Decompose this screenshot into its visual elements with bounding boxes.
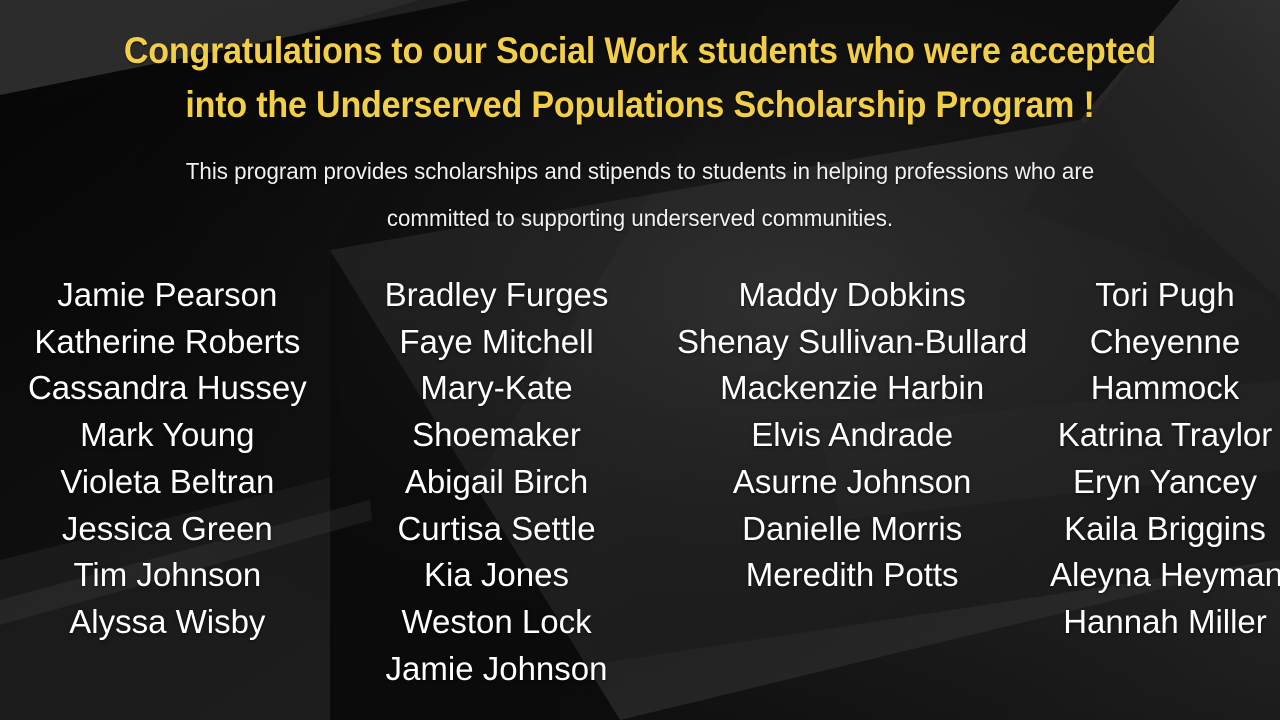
page-title-line-2: into the Underserved Populations Scholar…: [51, 78, 1229, 132]
recipient-name: Weston Lock: [347, 599, 647, 646]
recipient-name: Shoemaker: [347, 412, 647, 459]
recipient-name: Elvis Andrade: [652, 412, 1052, 459]
recipient-name: Bradley Furges: [347, 272, 647, 319]
recipient-name: Curtisa Settle: [347, 506, 647, 553]
recipient-name-columns: Jamie PearsonKatherine RobertsCassandra …: [0, 272, 1280, 692]
recipient-name: Shenay Sullivan-Bullard: [652, 319, 1052, 366]
recipient-name: Abigail Birch: [347, 459, 647, 506]
recipient-name: Tim Johnson: [0, 552, 335, 599]
name-column-2: Bradley FurgesFaye MitchellMary-KateShoe…: [347, 272, 647, 692]
recipient-name: Asurne Johnson: [652, 459, 1052, 506]
slide-canvas: Congratulations to our Social Work stude…: [0, 0, 1280, 720]
recipient-name: Kia Jones: [347, 552, 647, 599]
recipient-name: Kaila Briggins: [1050, 506, 1280, 553]
slide-content: Congratulations to our Social Work stude…: [0, 0, 1280, 720]
recipient-name: Maddy Dobkins: [652, 272, 1052, 319]
recipient-name: Mackenzie Harbin: [652, 365, 1052, 412]
page-title: Congratulations to our Social Work stude…: [51, 24, 1229, 132]
recipient-name: Eryn Yancey: [1050, 459, 1280, 506]
recipient-name: Jamie Pearson: [0, 272, 335, 319]
name-column-4: Tori PughCheyenneHammockKatrina TraylorE…: [1050, 272, 1280, 646]
recipient-name: Mark Young: [0, 412, 335, 459]
recipient-name: Aleyna Heyman: [1050, 552, 1280, 599]
recipient-name: Katherine Roberts: [0, 319, 335, 366]
page-subtitle-line-1: This program provides scholarships and s…: [118, 148, 1163, 195]
recipient-name: Mary-Kate: [347, 365, 647, 412]
page-title-line-1: Congratulations to our Social Work stude…: [51, 24, 1229, 78]
recipient-name: Jessica Green: [0, 506, 335, 553]
recipient-name: Tori Pugh: [1050, 272, 1280, 319]
recipient-name: Jamie Johnson: [347, 646, 647, 693]
recipient-name: Violeta Beltran: [0, 459, 335, 506]
recipient-name: Hannah Miller: [1050, 599, 1280, 646]
recipient-name: Katrina Traylor: [1050, 412, 1280, 459]
recipient-name: Alyssa Wisby: [0, 599, 335, 646]
recipient-name: Hammock: [1050, 365, 1280, 412]
recipient-name: Danielle Morris: [652, 506, 1052, 553]
name-column-1: Jamie PearsonKatherine RobertsCassandra …: [0, 272, 335, 646]
page-subtitle: This program provides scholarships and s…: [118, 148, 1163, 242]
recipient-name: Cheyenne: [1050, 319, 1280, 366]
recipient-name: Meredith Potts: [652, 552, 1052, 599]
recipient-name: Faye Mitchell: [347, 319, 647, 366]
page-subtitle-line-2: committed to supporting underserved comm…: [118, 195, 1163, 242]
recipient-name: Cassandra Hussey: [0, 365, 335, 412]
name-column-3: Maddy DobkinsShenay Sullivan-BullardMack…: [652, 272, 1052, 599]
